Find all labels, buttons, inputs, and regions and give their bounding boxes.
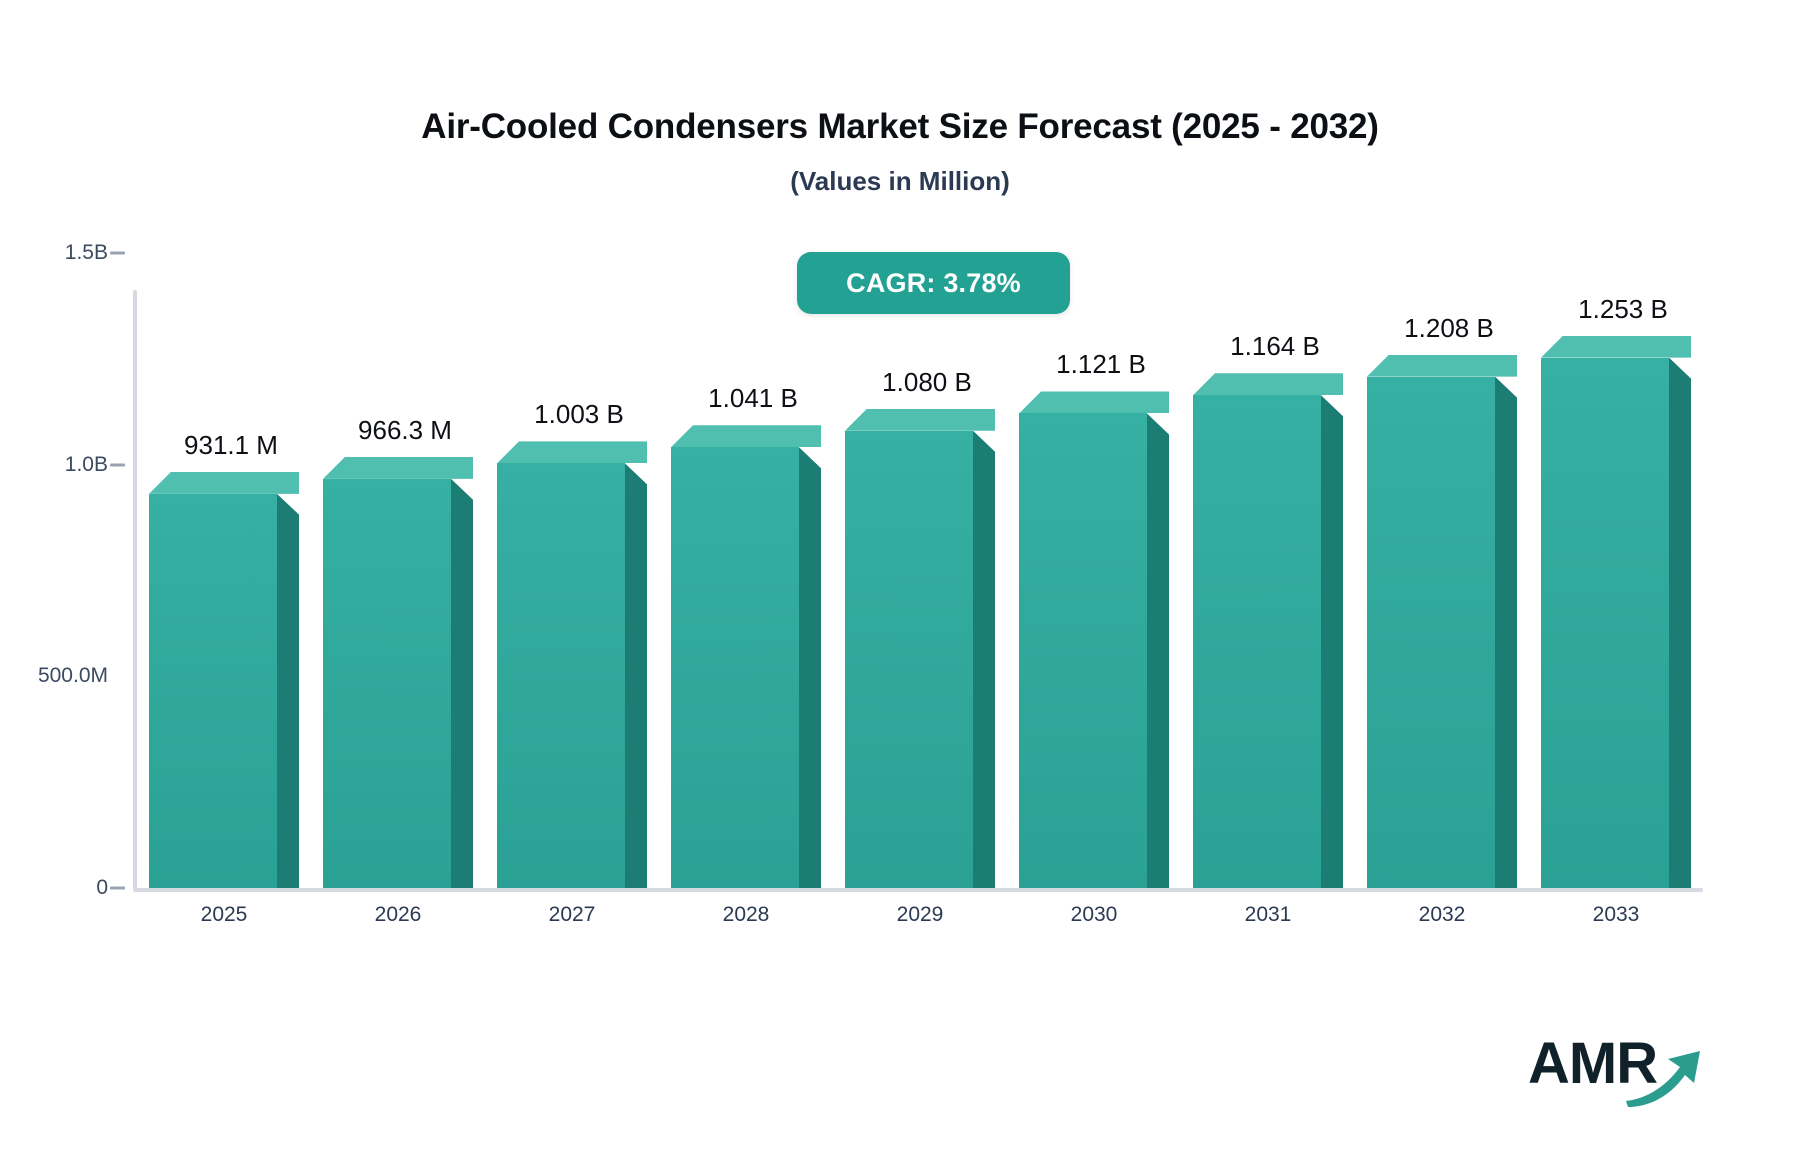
bar-value-label: 1.208 B bbox=[1404, 313, 1494, 344]
bar-column bbox=[845, 409, 995, 888]
bar-side-face bbox=[1669, 358, 1691, 888]
bar-front-face bbox=[1019, 413, 1147, 888]
bar-front-face bbox=[1541, 358, 1669, 888]
bar-side-face bbox=[973, 431, 995, 888]
bar-top-face bbox=[1367, 355, 1517, 377]
bar-top-face bbox=[497, 441, 647, 463]
bar-column bbox=[497, 441, 647, 888]
x-axis-tick-label: 2026 bbox=[375, 903, 422, 927]
bar-front-face bbox=[323, 479, 451, 888]
bar-column bbox=[1193, 373, 1343, 888]
bar-top-face bbox=[1541, 336, 1691, 358]
bar-value-label: 1.041 B bbox=[708, 383, 798, 414]
bar-top-face bbox=[1193, 373, 1343, 395]
bar-side-face bbox=[625, 463, 647, 888]
x-axis-tick-label: 2029 bbox=[897, 903, 944, 927]
x-axis-tick-label: 2031 bbox=[1245, 903, 1292, 927]
bar-side-face bbox=[277, 494, 299, 888]
bar-column bbox=[149, 472, 299, 888]
bar-side-face bbox=[1147, 413, 1169, 888]
bar-front-face bbox=[149, 494, 277, 888]
bar-front-face bbox=[497, 463, 625, 888]
bar-value-label: 931.1 M bbox=[184, 430, 278, 461]
x-axis-tick-label: 2025 bbox=[201, 903, 248, 927]
x-axis-tick-label: 2028 bbox=[723, 903, 770, 927]
bar-top-face bbox=[149, 472, 299, 494]
growth-arrow-icon bbox=[1624, 1045, 1704, 1112]
bar-column bbox=[671, 425, 821, 888]
bar-front-face bbox=[1367, 377, 1495, 888]
x-axis-tick-label: 2030 bbox=[1071, 903, 1118, 927]
bar-value-label: 1.080 B bbox=[882, 367, 972, 398]
x-axis-tick-label: 2033 bbox=[1593, 903, 1640, 927]
bar-top-face bbox=[845, 409, 995, 431]
x-axis-tick-label: 2027 bbox=[549, 903, 596, 927]
amr-logo: AMR bbox=[1528, 1035, 1703, 1107]
bar-side-face bbox=[1321, 395, 1343, 888]
bar-top-face bbox=[671, 425, 821, 447]
bar-column bbox=[1367, 355, 1517, 888]
bar-value-label: 1.003 B bbox=[534, 399, 624, 430]
x-axis-tick-label: 2032 bbox=[1419, 903, 1466, 927]
bar-side-face bbox=[451, 479, 473, 888]
chart-plot-area: 0500.0M1.0B1.5B 931.1 M966.3 M1.003 B1.0… bbox=[0, 0, 1800, 1156]
bar-front-face bbox=[671, 447, 799, 888]
bar-column bbox=[323, 457, 473, 888]
bar-side-face bbox=[799, 447, 821, 888]
bar-value-label: 1.164 B bbox=[1230, 331, 1320, 362]
bar-value-label: 966.3 M bbox=[358, 415, 452, 446]
bar-value-label: 1.121 B bbox=[1056, 349, 1146, 380]
bar-front-face bbox=[845, 431, 973, 888]
bar-top-face bbox=[1019, 391, 1169, 413]
bar-front-face bbox=[1193, 395, 1321, 888]
bar-column bbox=[1019, 391, 1169, 888]
bar-top-face bbox=[323, 457, 473, 479]
bar-value-label: 1.253 B bbox=[1578, 294, 1668, 325]
bar-series: 931.1 M966.3 M1.003 B1.041 B1.080 B1.121… bbox=[0, 0, 1800, 1156]
bar-side-face bbox=[1495, 377, 1517, 888]
bar-column bbox=[1541, 336, 1691, 888]
